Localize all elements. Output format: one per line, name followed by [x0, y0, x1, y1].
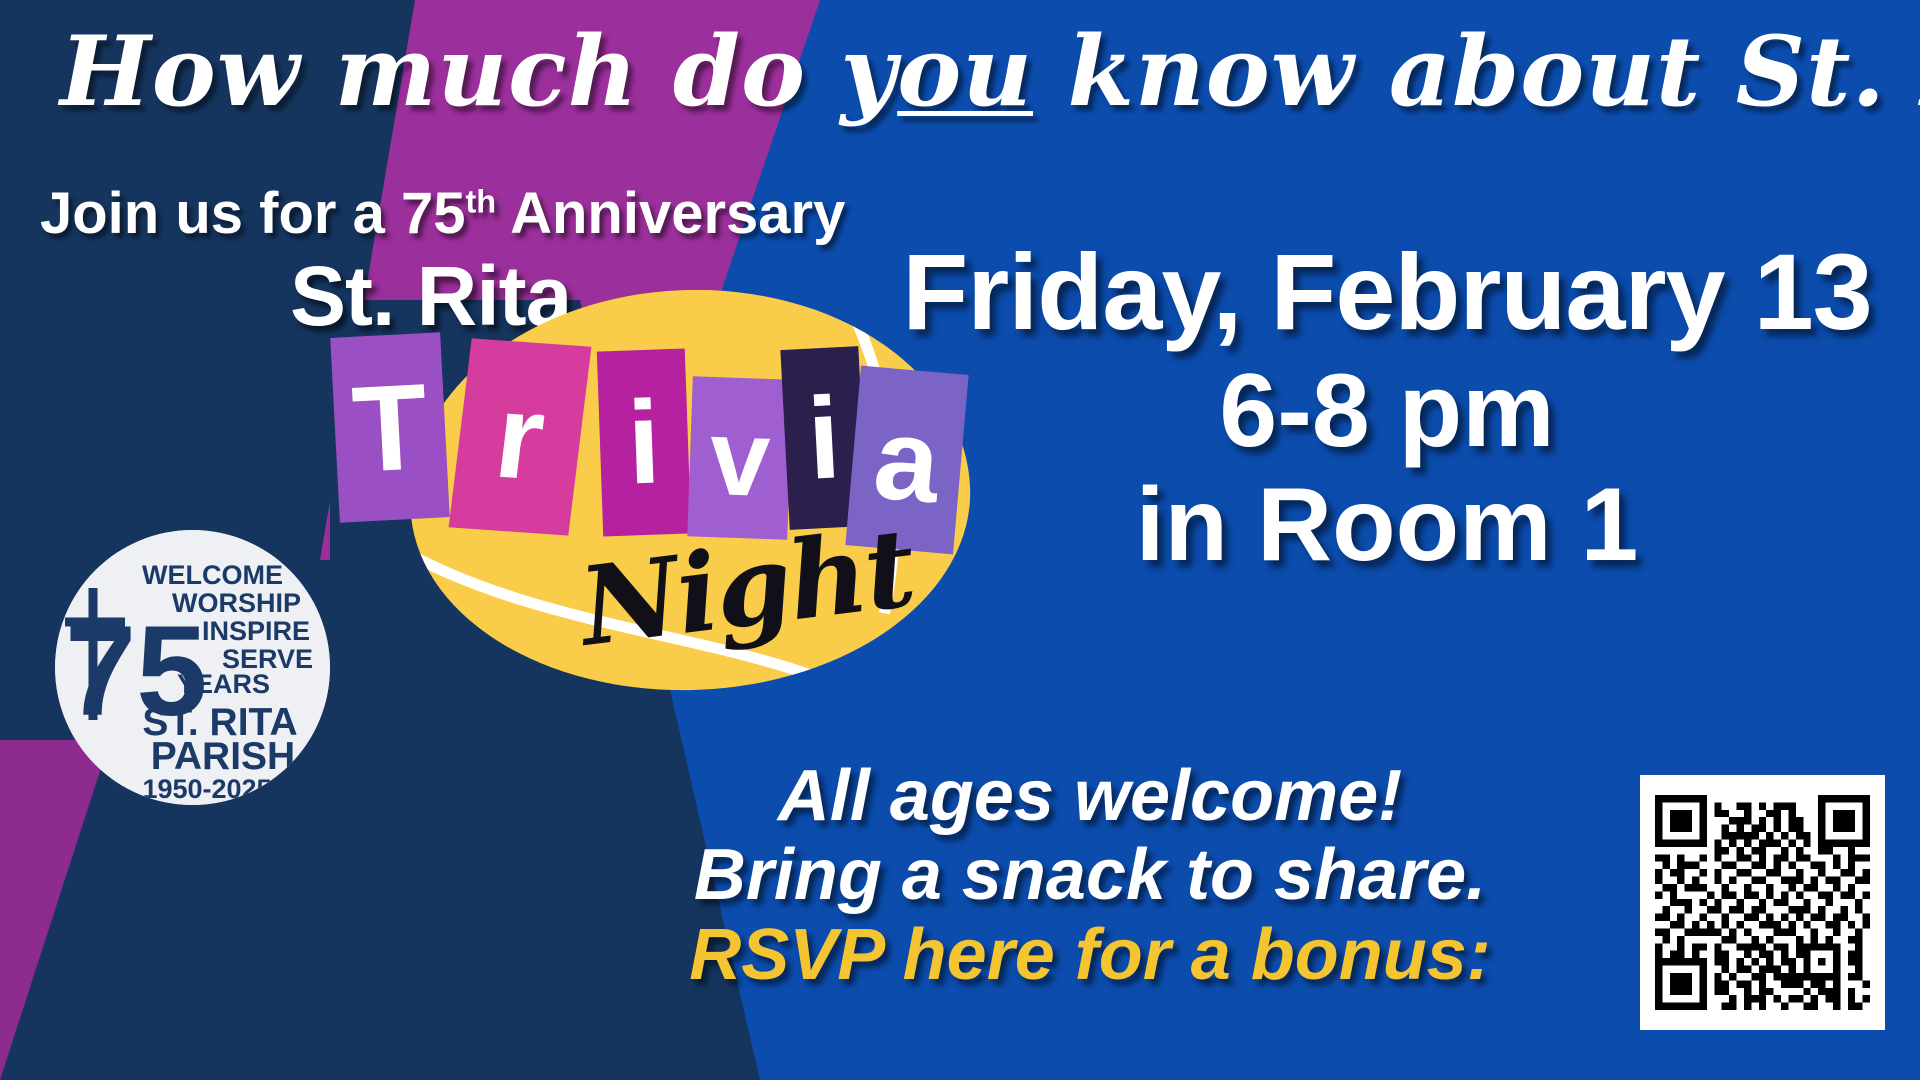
trivia-tile-v: v	[687, 376, 793, 539]
event-time: 6-8 pm	[882, 362, 1892, 462]
badge-line2: WORSHIP	[172, 588, 301, 618]
headline-part-after: know about St. Rita Church?	[1033, 15, 1920, 128]
footer-all-ages: All ages welcome!	[560, 760, 1620, 833]
event-details-block: Friday, February 13 6-8 pm in Room 1	[882, 240, 1892, 575]
invite-suffix: Anniversary	[496, 181, 845, 246]
badge-line4: SERVE	[222, 644, 313, 674]
headline-part-before: How much do y	[60, 15, 897, 128]
qr-code-icon	[1655, 795, 1870, 1010]
trivia-letter-1: r	[489, 376, 550, 499]
badge-dates: 1950-2025	[142, 774, 271, 804]
trivia-tile-i1: i	[597, 349, 691, 537]
event-date: Friday, February 13	[882, 240, 1892, 344]
footer-rsvp-prompt: RSVP here for a bonus:	[560, 919, 1620, 992]
badge-artwork: 75 YEARS WELCOME WORSHIP INSPIRE SERVE S…	[55, 530, 330, 805]
anniversary-invite-line: Join us for a 75th Anniversary	[40, 180, 845, 247]
headline-part-underlined: ou	[897, 15, 1033, 128]
anniversary-badge: 75 YEARS WELCOME WORSHIP INSPIRE SERVE S…	[55, 530, 330, 805]
trivia-tile-T: T	[330, 332, 450, 523]
trivia-letter-0: T	[350, 365, 431, 491]
invite-prefix: Join us for a 75	[40, 181, 465, 246]
flyer-canvas: How much do you know about St. Rita Chur…	[0, 0, 1920, 1080]
footer-bring-snack: Bring a snack to share.	[560, 839, 1620, 912]
rsvp-qr-code[interactable]	[1640, 775, 1885, 1030]
trivia-letter-4: i	[805, 379, 843, 497]
headline-question: How much do you know about St. Rita Chur…	[60, 22, 1890, 123]
event-location: in Room 1	[882, 476, 1892, 576]
badge-parish-line2: PARISH	[151, 735, 295, 778]
badge-line1: WELCOME	[142, 560, 283, 590]
invite-ordinal-suffix: th	[465, 184, 496, 220]
badge-line3: INSPIRE	[202, 616, 310, 646]
footer-note-block: All ages welcome! Bring a snack to share…	[560, 760, 1620, 992]
trivia-letter-2: i	[626, 383, 663, 502]
trivia-letter-3: v	[708, 403, 772, 513]
trivia-tile-r: r	[449, 338, 592, 535]
